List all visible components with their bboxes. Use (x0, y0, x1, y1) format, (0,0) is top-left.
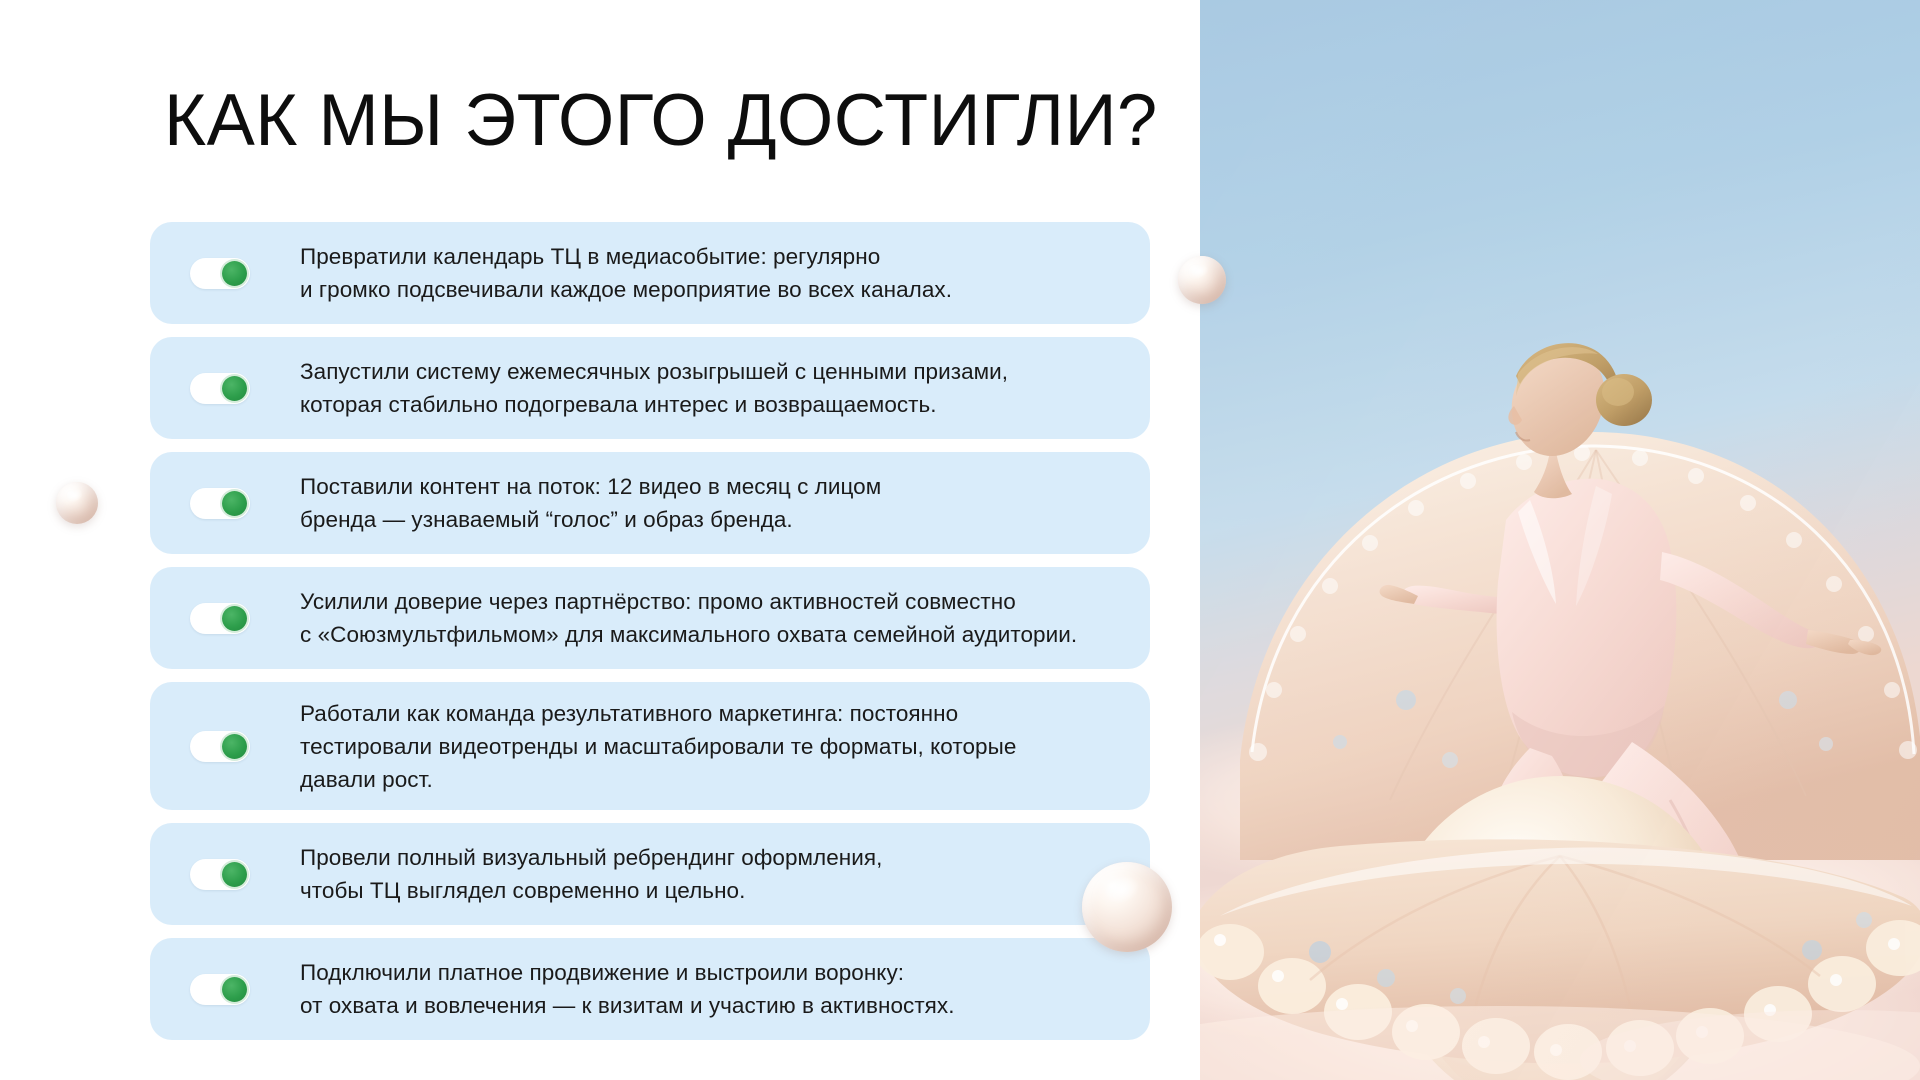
list-item-text: Провели полный визуальный ребрендинг офо… (300, 835, 912, 913)
text-line: и громко подсвечивали каждое мероприятие… (300, 273, 952, 306)
toggle-switch[interactable] (190, 488, 250, 519)
text-line: Запустили систему ежемесячных розыгрышей… (300, 355, 1008, 388)
toggle-switch[interactable] (190, 731, 250, 762)
toggle-knob (222, 606, 247, 631)
list-item[interactable]: Работали как команда результативного мар… (150, 682, 1150, 810)
list-item-text: Работали как команда результативного мар… (300, 691, 1046, 802)
list-item-text: Подключили платное продвижение и выстрои… (300, 950, 985, 1028)
text-line: Провели полный визуальный ребрендинг офо… (300, 841, 882, 874)
list-item[interactable]: Поставили контент на поток: 12 видео в м… (150, 452, 1150, 554)
photo-grain (1200, 0, 1920, 1080)
text-line: Подключили платное продвижение и выстрои… (300, 956, 955, 989)
content-panel: КАК МЫ ЭТОГО ДОСТИГЛИ? Превратили календ… (0, 0, 1200, 1080)
pearl-small-top-icon (1178, 256, 1226, 304)
text-line: от охвата и вовлечения — к визитам и уча… (300, 989, 955, 1022)
text-line: Усилили доверие через партнёрство: промо… (300, 585, 1077, 618)
pearl-large-right-icon (1082, 862, 1172, 952)
toggle-knob (222, 376, 247, 401)
text-line: Превратили календарь ТЦ в медиасобытие: … (300, 240, 952, 273)
toggle-switch[interactable] (190, 974, 250, 1005)
toggle-knob (222, 261, 247, 286)
achievement-list: Превратили календарь ТЦ в медиасобытие: … (150, 222, 1150, 1053)
list-item-text: Запустили систему ежемесячных розыгрышей… (300, 349, 1038, 427)
text-line: которая стабильно подогревала интерес и … (300, 388, 1008, 421)
list-item[interactable]: Подключили платное продвижение и выстрои… (150, 938, 1150, 1040)
toggle-knob (222, 734, 247, 759)
list-item[interactable]: Превратили календарь ТЦ в медиасобытие: … (150, 222, 1150, 324)
text-line: с «Союзмультфильмом» для максимального о… (300, 618, 1077, 651)
toggle-knob (222, 977, 247, 1002)
list-item[interactable]: Провели полный визуальный ребрендинг офо… (150, 823, 1150, 925)
page-title: КАК МЫ ЭТОГО ДОСТИГЛИ? (164, 84, 1158, 157)
list-item[interactable]: Усилили доверие через партнёрство: промо… (150, 567, 1150, 669)
toggle-knob (222, 862, 247, 887)
hero-photo (1200, 0, 1920, 1080)
text-line: Поставили контент на поток: 12 видео в м… (300, 470, 881, 503)
toggle-switch[interactable] (190, 603, 250, 634)
toggle-switch[interactable] (190, 373, 250, 404)
toggle-switch[interactable] (190, 258, 250, 289)
list-item-text: Превратили календарь ТЦ в медиасобытие: … (300, 234, 982, 312)
slide-root: КАК МЫ ЭТОГО ДОСТИГЛИ? Превратили календ… (0, 0, 1920, 1080)
list-item-text: Поставили контент на поток: 12 видео в м… (300, 464, 911, 542)
list-item-text: Усилили доверие через партнёрство: промо… (300, 579, 1107, 657)
list-item[interactable]: Запустили систему ежемесячных розыгрышей… (150, 337, 1150, 439)
text-line: Работали как команда результативного мар… (300, 697, 1016, 730)
toggle-switch[interactable] (190, 859, 250, 890)
toggle-knob (222, 491, 247, 516)
text-line: бренда — узнаваемый “голос” и образ брен… (300, 503, 881, 536)
pearl-small-left-icon (56, 482, 98, 524)
text-line: тестировали видеотренды и масштабировали… (300, 730, 1016, 763)
text-line: давали рост. (300, 763, 1016, 796)
text-line: чтобы ТЦ выглядел современно и цельно. (300, 874, 882, 907)
